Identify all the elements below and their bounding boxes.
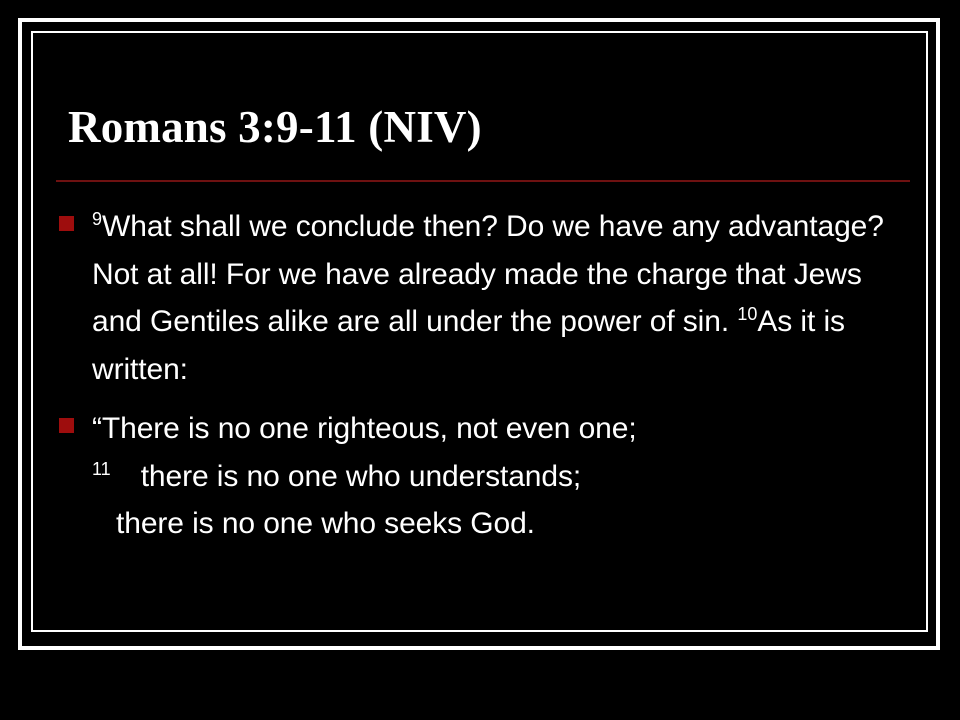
bullet-line: “There is no one righteous, not even one… [92, 412, 637, 445]
bullet-line: What shall we conclude then? Do we have [102, 210, 663, 243]
bullet-paragraph: 9What shall we conclude then? Do we have… [92, 203, 916, 393]
verse-number-11: 11 [92, 459, 111, 479]
square-bullet-icon [59, 216, 74, 231]
verse-number-10: 10 [737, 304, 757, 324]
title-divider [56, 180, 910, 182]
slide-title: Romans 3:9-11 (NIV) [68, 100, 908, 155]
square-bullet-icon [59, 418, 74, 433]
bullet-line: Gentiles alike are all under the power o… [150, 305, 729, 338]
slide: Romans 3:9-11 (NIV) 9What shall we concl… [0, 0, 960, 720]
bullet-item: “There is no one righteous, not even one… [56, 405, 916, 548]
bullet-item: 9What shall we conclude then? Do we have… [56, 203, 916, 393]
bullet-line: there is no one who seeks God. [116, 507, 535, 540]
bullet-line: there is no one who understands; [141, 460, 581, 493]
slide-body: 9What shall we conclude then? Do we have… [56, 203, 916, 548]
verse-number-9: 9 [92, 209, 102, 229]
bullet-paragraph: “There is no one righteous, not even one… [92, 405, 916, 548]
